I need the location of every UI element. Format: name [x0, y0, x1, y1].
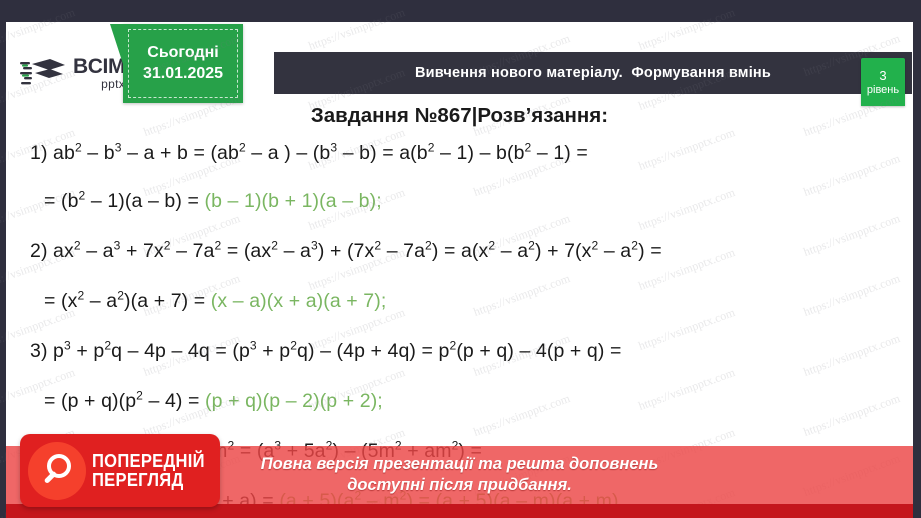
watermark-text: https://vsimpptx.com [802, 211, 903, 260]
math-segment: – 1) = [531, 142, 588, 164]
watermark-text: https://vsimpptx.com [472, 391, 573, 440]
today-date-flag-inner: Сьогодні 31.01.2025 [128, 29, 238, 98]
math-segment: – 1) – b(b2 [435, 142, 532, 164]
today-date-flag: Сьогодні 31.01.2025 [123, 24, 243, 103]
math-segment: (b – 1)(b + 1)(a – b); [204, 190, 381, 212]
magnifier-icon [28, 442, 86, 500]
preview-badge-line2: ПЕРЕГЛЯД [92, 471, 205, 489]
presentation-slide: Вивчення нового матеріалу. Формування вм… [0, 0, 921, 518]
math-exponent: 3 [250, 339, 257, 353]
page-title: Завдання №867|Розв’язання: [6, 104, 913, 128]
math-segment: (p + q) – 4(p + q) = [456, 340, 621, 362]
header-section-label: Вивчення нового матеріалу. Формування вм… [415, 65, 771, 81]
math-segment: – 7a2 [171, 240, 222, 262]
today-label: Сьогодні [147, 44, 218, 62]
math-segment: = (ax2 [221, 240, 278, 262]
math-exponent: 3 [64, 339, 71, 353]
math-segment: q – 4p – 4q = (p3 [111, 340, 257, 362]
math-segment: ) + (7x2 [318, 240, 381, 262]
solution-line-4: = (x2 – a2)(a + 7) = (x – a)(x + a)(a + … [44, 290, 386, 313]
level-number: 3 [879, 68, 886, 83]
difficulty-level-badge: 3 рівень [861, 58, 905, 106]
watermark-text: https://vsimpptx.com [802, 271, 903, 320]
watermark-text: https://vsimpptx.com [472, 271, 573, 320]
math-segment: – 1)(a – b) = [85, 190, 204, 212]
math-segment: – 7a2 [381, 240, 432, 262]
math-segment: ) = a(x2 [432, 240, 495, 262]
watermark-text: https://vsimpptx.com [637, 365, 738, 414]
math-segment: 1) ab2 [30, 142, 82, 164]
math-exponent: 2 [136, 389, 143, 403]
watermark-text: https://vsimpptx.com [637, 305, 738, 354]
watermark-text: https://vsimpptx.com [637, 125, 738, 174]
header-section-bar: Вивчення нового матеріалу. Формування вм… [274, 52, 912, 94]
math-segment: – a3 [278, 240, 318, 262]
math-segment: – a + b = (ab2 [122, 142, 246, 164]
preview-badge-text: ПОПЕРЕДНІЙ ПЕРЕГЛЯД [92, 452, 215, 489]
purchase-notice-line2: доступні після придбання. [347, 475, 572, 496]
brand-name: BCIM [73, 56, 125, 77]
solution-line-6: = (p + q)(p2 – 4) = (p + q)(p – 2)(p + 2… [44, 390, 383, 413]
level-word: рівень [867, 84, 899, 96]
math-segment: – 4) = [143, 390, 205, 412]
math-exponent: 3 [115, 141, 122, 155]
solution-line-5: 3) p3 + p2q – 4p – 4q = (p3 + p2q) – (4p… [30, 340, 621, 363]
watermark-text: https://vsimpptx.com [637, 185, 738, 234]
math-segment: + p2 [71, 340, 111, 362]
preview-badge-line1: ПОПЕРЕДНІЙ [92, 452, 205, 470]
graduation-cap-icon [20, 56, 66, 90]
solution-line-3: 2) ax2 – a3 + 7x2 – 7a2 = (ax2 – a3) + (… [30, 240, 662, 263]
watermark-text: https://vsimpptx.com [802, 391, 903, 440]
math-segment: + p2 [257, 340, 297, 362]
math-segment: – a ) – (b3 [246, 142, 337, 164]
math-segment: = (x2 [44, 290, 84, 312]
math-exponent: 2 [75, 141, 82, 155]
math-segment: – a2 [84, 290, 124, 312]
brand-logo-text: BCIM pptx [73, 56, 125, 90]
slide-top-rail [0, 0, 921, 22]
math-exponent: 2 [528, 239, 535, 253]
math-exponent: 3 [311, 239, 318, 253]
math-segment: 3) p3 [30, 340, 71, 362]
brand-suffix: pptx [73, 78, 125, 90]
math-segment: – a2 [495, 240, 535, 262]
preview-badge[interactable]: ПОПЕРЕДНІЙ ПЕРЕГЛЯД [20, 434, 220, 507]
math-exponent: 2 [164, 239, 171, 253]
math-segment: = (p + q)(p2 [44, 390, 143, 412]
math-exponent: 2 [425, 239, 432, 253]
math-segment: + 7x2 [120, 240, 170, 262]
math-segment: (x – a)(x + a)(a + 7); [211, 290, 387, 312]
solution-line-1: 1) ab2 – b3 – a + b = (ab2 – a ) – (b3 –… [30, 142, 588, 165]
math-exponent: 2 [239, 141, 246, 155]
math-segment: 2) ax2 [30, 240, 81, 262]
watermark-text: https://vsimpptx.com [802, 331, 903, 380]
math-segment: – a3 [81, 240, 121, 262]
math-exponent: 2 [428, 141, 435, 155]
math-segment: q) – (4p + 4q) = p2 [297, 340, 456, 362]
slide-content-card: Вивчення нового матеріалу. Формування вм… [6, 22, 913, 518]
watermark-text: https://vsimpptx.com [802, 151, 903, 200]
today-date: 31.01.2025 [143, 65, 223, 83]
math-segment: ) = [638, 240, 662, 262]
math-exponent: 2 [74, 239, 81, 253]
solution-line-2: = (b2 – 1)(a – b) = (b – 1)(b + 1)(a – b… [44, 190, 382, 213]
math-segment: – b) = a(b2 [337, 142, 434, 164]
math-segment: (p + q)(p – 2)(p + 2); [205, 390, 383, 412]
math-exponent: 2 [290, 339, 297, 353]
math-segment: – b3 [82, 142, 122, 164]
math-segment: – a2 [598, 240, 638, 262]
slide-right-rail [913, 0, 921, 518]
math-segment: )(a + 7) = [124, 290, 211, 312]
math-segment: ) + 7(x2 [535, 240, 598, 262]
math-segment: = (b2 [44, 190, 85, 212]
purchase-notice-line1: Повна версія презентації та решта доповн… [261, 454, 659, 475]
